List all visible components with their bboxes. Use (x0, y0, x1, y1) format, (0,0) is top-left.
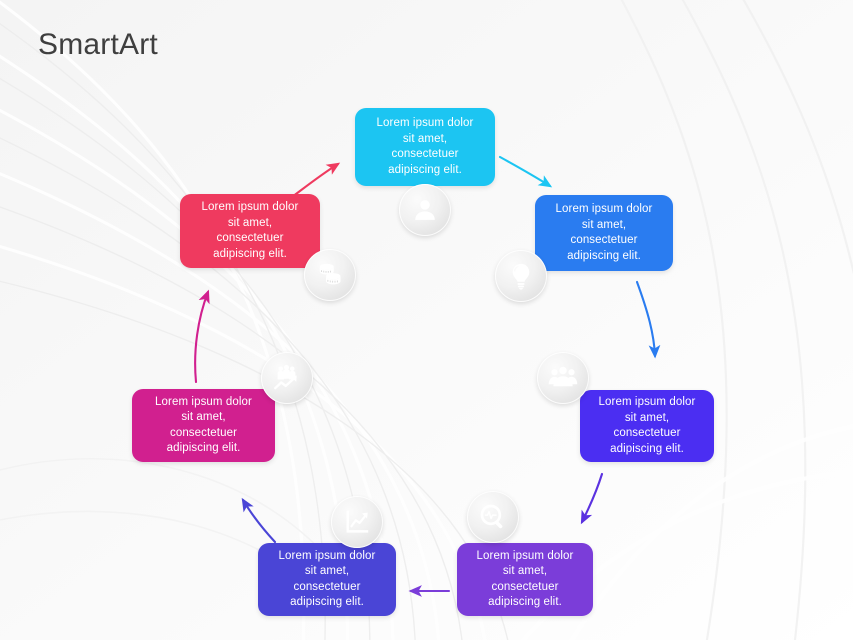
icon-circle-growth-chart[interactable] (331, 496, 383, 548)
node-box-4[interactable]: Lorem ipsum dolor sit amet, consectetuer… (457, 543, 593, 616)
lightbulb-icon (507, 262, 535, 290)
node-box-6[interactable]: Lorem ipsum dolor sit amet, consectetuer… (132, 389, 275, 462)
icon-circle-lightbulb[interactable] (495, 250, 547, 302)
icon-circle-people-growth[interactable] (261, 352, 313, 404)
node-box-1[interactable]: Lorem ipsum dolor sit amet, consectetuer… (355, 108, 495, 186)
page-title: SmartArt (38, 25, 158, 65)
person-icon (411, 196, 439, 224)
money-coins-icon (315, 260, 345, 290)
node-1-text: Lorem ipsum dolor sit amet, consectetuer… (367, 116, 484, 178)
node-box-3[interactable]: Lorem ipsum dolor sit amet, consectetuer… (580, 390, 714, 462)
arrow-node3-to-node4 (582, 474, 602, 522)
arrow-node6-to-node7 (195, 292, 208, 382)
icon-circle-people-group[interactable] (537, 352, 589, 404)
node-2-text: Lorem ipsum dolor sit amet, consectetuer… (546, 202, 663, 264)
background-swirl-decoration (0, 0, 853, 640)
growth-chart-icon (343, 508, 371, 536)
node-box-5[interactable]: Lorem ipsum dolor sit amet, consectetuer… (258, 543, 396, 616)
arrow-node5-to-node6 (243, 500, 275, 542)
node-3-text: Lorem ipsum dolor sit amet, consectetuer… (589, 395, 706, 457)
icon-circle-money-coins[interactable] (304, 249, 356, 301)
people-group-icon (548, 363, 578, 393)
icon-circle-magnifier-analytics[interactable] (467, 491, 519, 543)
node-box-2[interactable]: Lorem ipsum dolor sit amet, consectetuer… (535, 195, 673, 271)
node-7-text: Lorem ipsum dolor sit amet, consectetuer… (192, 200, 309, 262)
node-4-text: Lorem ipsum dolor sit amet, consectetuer… (467, 549, 584, 611)
icon-circle-person[interactable] (399, 184, 451, 236)
arrow-node2-to-node3 (637, 282, 655, 356)
smartart-slide: SmartArt (0, 0, 853, 640)
node-box-7[interactable]: Lorem ipsum dolor sit amet, consectetuer… (180, 194, 320, 268)
node-6-text: Lorem ipsum dolor sit amet, consectetuer… (145, 395, 262, 457)
arrow-node7-to-node1 (292, 164, 338, 197)
node-5-text: Lorem ipsum dolor sit amet, consectetuer… (269, 549, 386, 611)
magnifier-analytics-icon (479, 503, 507, 531)
cycle-arrows (0, 0, 853, 640)
arrow-node1-to-node2 (500, 157, 550, 186)
people-growth-icon (272, 363, 302, 393)
